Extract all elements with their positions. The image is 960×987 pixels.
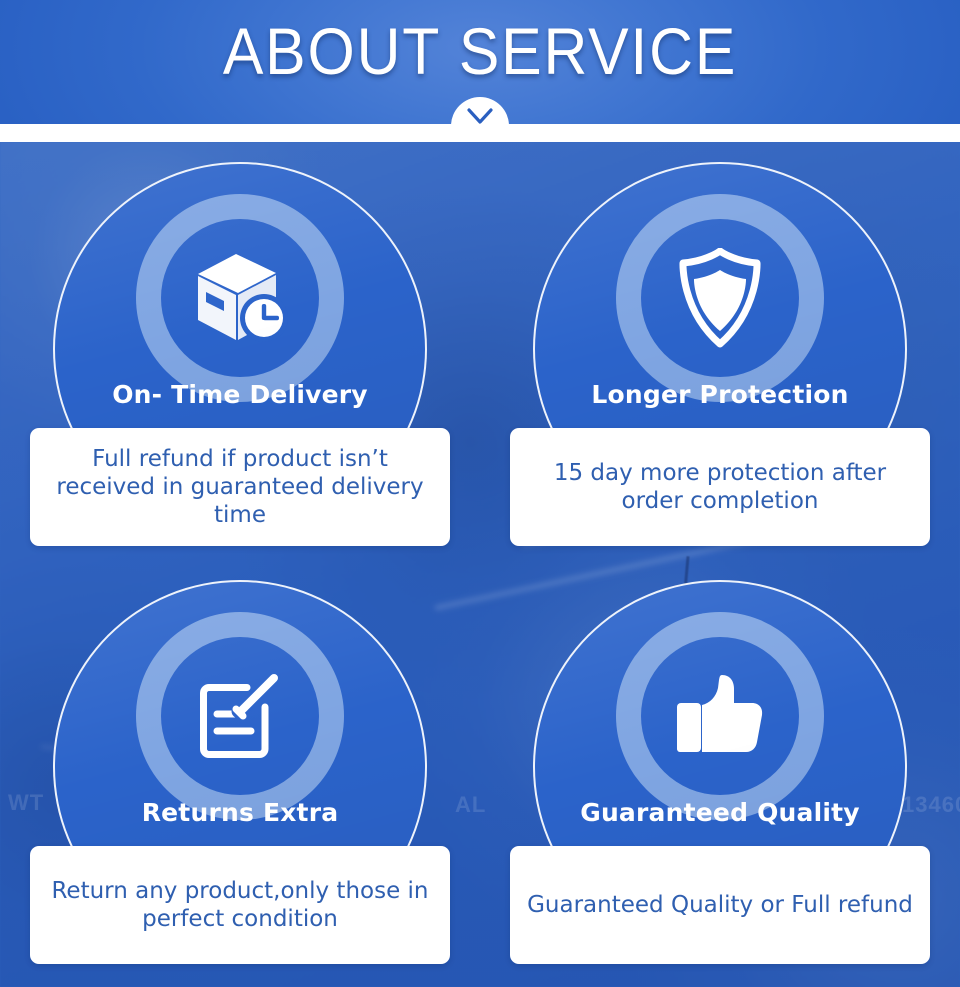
card-ring-outer [616,194,824,402]
card-description: Return any product,only those in perfect… [40,877,440,933]
chevron-down-icon[interactable] [451,97,509,124]
card-description-box: Full refund if product isn’t received in… [30,428,450,546]
feature-card-returns-extra[interactable]: Returns Extra Return any product,only th… [0,570,480,987]
card-description-box: 15 day more protection after order compl… [510,428,930,546]
main-section: 134603 WT AL [0,142,960,987]
thumbs-up-icon [668,664,772,768]
card-description-box: Return any product,only those in perfect… [30,846,450,964]
card-title: Guaranteed Quality [480,797,960,829]
card-description-box: Guaranteed Quality or Full refund [510,846,930,964]
card-title: Returns Extra [0,797,480,829]
header-divider [0,124,960,142]
card-ring-inner [161,219,319,377]
feature-card-guaranteed-quality[interactable]: Guaranteed Quality Guaranteed Quality or… [480,570,960,987]
card-description: Full refund if product isn’t received in… [40,445,440,529]
page-title: ABOUT SERVICE [38,14,921,88]
feature-card-longer-protection[interactable]: Longer Protection 15 day more protection… [480,152,960,572]
card-title: Longer Protection [480,379,960,411]
card-ring-inner [641,219,799,377]
feature-card-grid: On- Time Delivery Full refund if product… [0,142,960,987]
card-ring-inner [641,637,799,795]
card-ring-outer [136,612,344,820]
about-service-banner: ABOUT SERVICE 134603 WT AL [0,0,960,987]
document-pencil-icon [188,664,292,768]
package-clock-icon [188,246,292,350]
card-description: Guaranteed Quality or Full refund [527,891,913,919]
card-description: 15 day more protection after order compl… [520,459,920,515]
card-ring-inner [161,637,319,795]
card-ring-outer [616,612,824,820]
card-title: On- Time Delivery [0,379,480,411]
page-header: ABOUT SERVICE [0,0,960,124]
card-ring-outer [136,194,344,402]
shield-icon [668,246,772,350]
feature-card-on-time-delivery[interactable]: On- Time Delivery Full refund if product… [0,152,480,572]
